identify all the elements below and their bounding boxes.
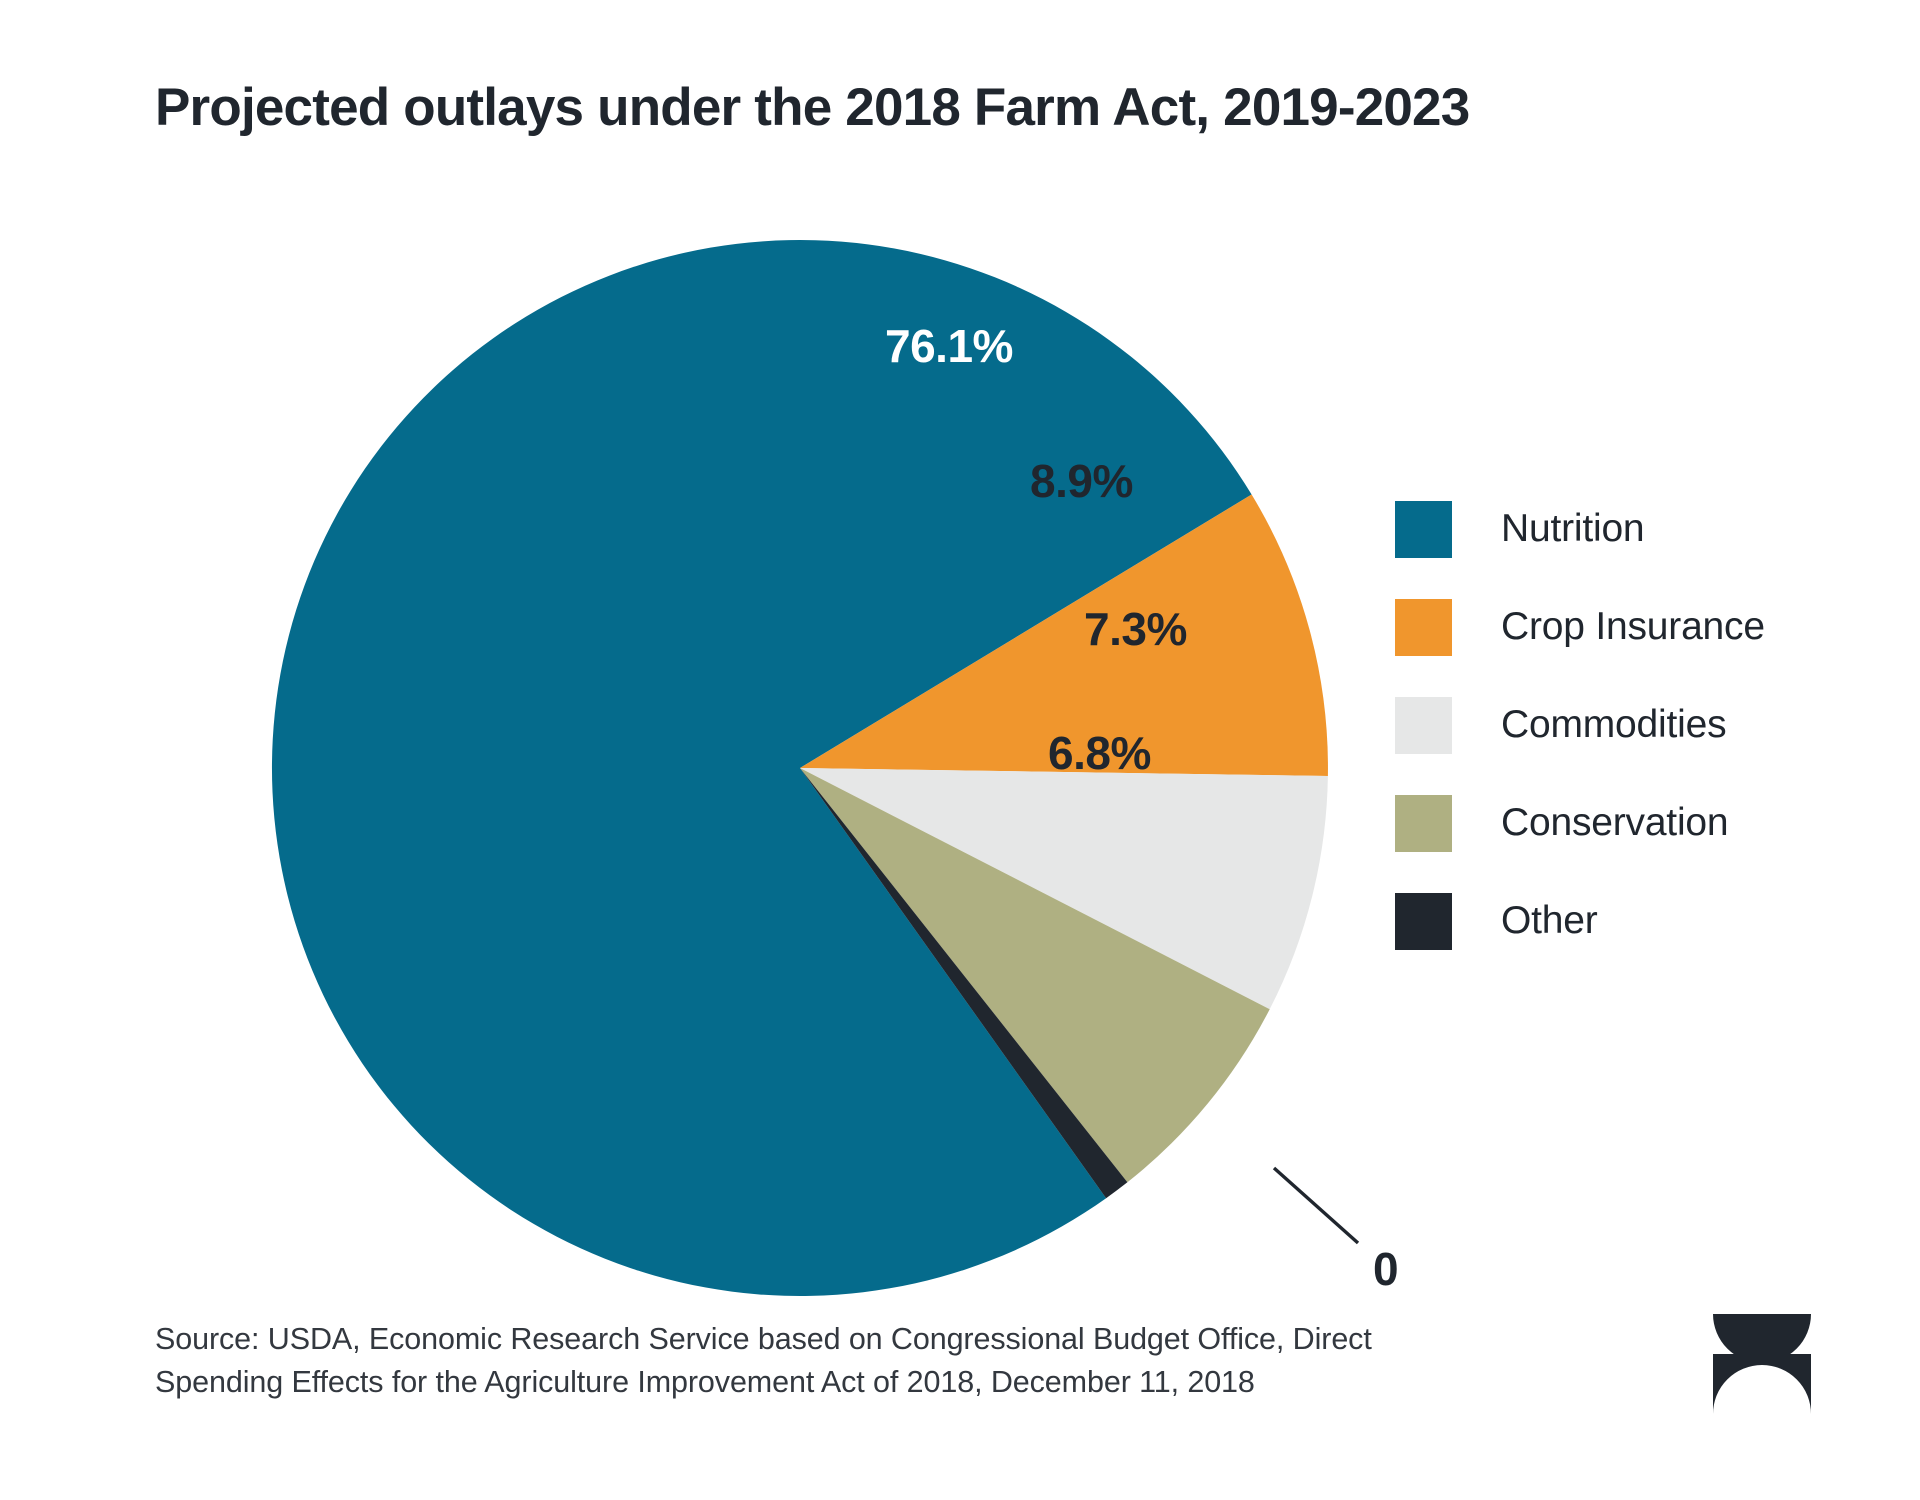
legend-label-conservation: Conservation xyxy=(1501,801,1728,845)
legend-swatch-commodities xyxy=(1395,697,1452,754)
legend-swatch-other xyxy=(1395,893,1452,950)
slice-value-nutrition: 76.1% xyxy=(885,320,1013,372)
legend-item-crop-insurance[interactable]: Crop Insurance xyxy=(1395,578,1865,676)
legend: Nutrition Crop Insurance Commodities Con… xyxy=(1395,480,1865,970)
slice-value-commodities: 7.3% xyxy=(1084,603,1187,655)
usda-ers-logo-mark xyxy=(1703,1310,1821,1420)
legend-label-commodities: Commodities xyxy=(1501,703,1726,747)
usda-ers-logo xyxy=(1703,1310,1821,1420)
legend-swatch-crop-insurance xyxy=(1395,599,1452,656)
legend-item-commodities[interactable]: Commodities xyxy=(1395,676,1865,774)
slice-value-other: 0.8% xyxy=(1373,1243,1400,1295)
pie-chart: 76.1% 8.9% 7.3% 6.8% 0.8% xyxy=(0,0,1400,1300)
legend-swatch-nutrition xyxy=(1395,501,1452,558)
legend-item-conservation[interactable]: Conservation xyxy=(1395,774,1865,872)
slice-value-crop-insurance: 8.9% xyxy=(1030,455,1133,507)
legend-label-nutrition: Nutrition xyxy=(1501,507,1644,551)
callout-leader-line-other xyxy=(1274,1168,1358,1243)
legend-label-crop-insurance: Crop Insurance xyxy=(1501,605,1765,649)
source-line-1: Source: USDA, Economic Research Service … xyxy=(155,1318,1535,1361)
legend-swatch-conservation xyxy=(1395,795,1452,852)
chart-page: Projected outlays under the 2018 Farm Ac… xyxy=(0,0,1920,1500)
slice-value-conservation: 6.8% xyxy=(1048,727,1151,779)
pie-chart-svg: 76.1% 8.9% 7.3% 6.8% 0.8% xyxy=(0,0,1400,1300)
legend-item-nutrition[interactable]: Nutrition xyxy=(1395,480,1865,578)
source-note: Source: USDA, Economic Research Service … xyxy=(155,1318,1535,1405)
legend-label-other: Other xyxy=(1501,899,1598,943)
legend-item-other[interactable]: Other xyxy=(1395,872,1865,970)
source-line-2: Spending Effects for the Agriculture Imp… xyxy=(155,1361,1535,1404)
